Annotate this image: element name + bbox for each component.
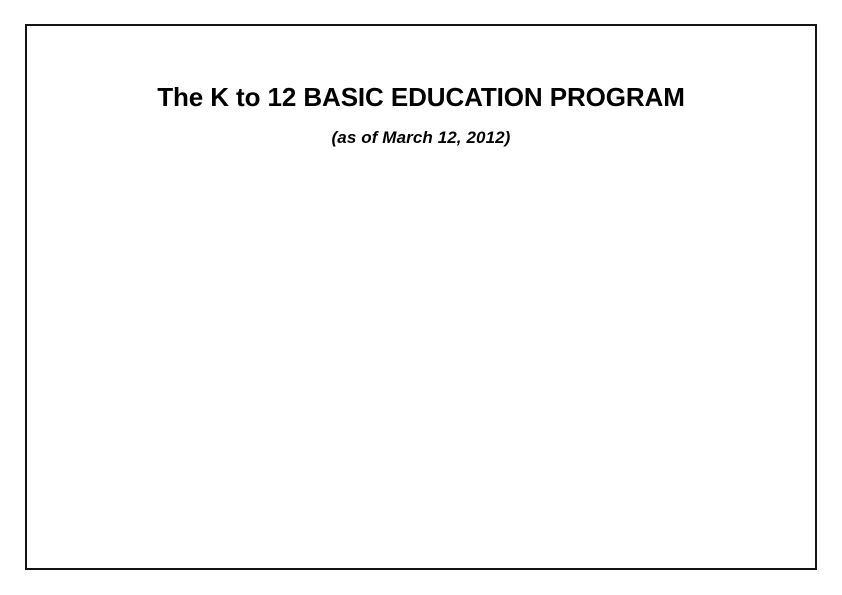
slide-body-content <box>27 166 815 568</box>
slide-subtitle: (as of March 12, 2012) <box>27 112 815 148</box>
slide-canvas: The K to 12 BASIC EDUCATION PROGRAM (as … <box>0 0 842 595</box>
slide-title: The K to 12 BASIC EDUCATION PROGRAM <box>27 82 815 112</box>
slide-title-block: The K to 12 BASIC EDUCATION PROGRAM (as … <box>27 82 815 148</box>
slide-frame: The K to 12 BASIC EDUCATION PROGRAM (as … <box>25 24 817 570</box>
